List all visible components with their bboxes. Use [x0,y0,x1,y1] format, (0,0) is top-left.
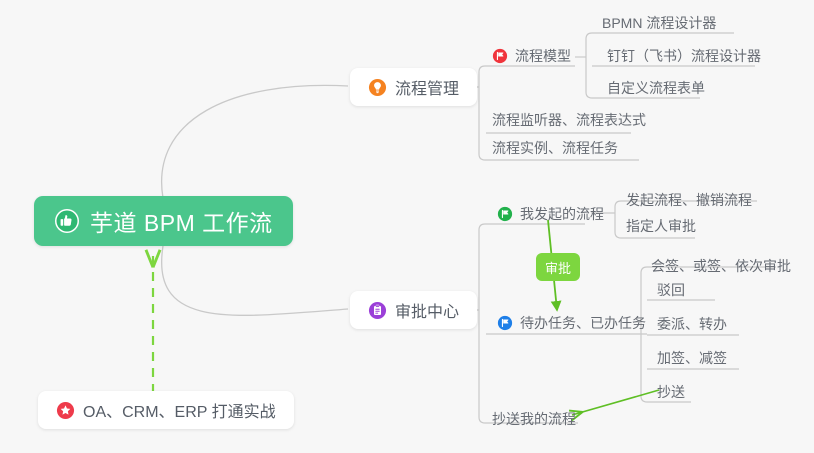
node-process-instance[interactable]: 流程实例、流程任务 [489,133,622,163]
leaf-label-start-cancel-process: 发起流程、撤销流程 [626,190,752,210]
node-todo-done-tasks[interactable]: 待办任务、已办任务 [494,308,650,338]
node-cc-to-me[interactable]: 抄送我的流程 [489,404,580,434]
node-label-cc-to-me: 抄送我的流程 [492,409,576,429]
leaf-bpmn-designer[interactable]: BPMN 流程设计器 [599,8,720,38]
leaf-label-add-remove-sign: 加签、减签 [657,348,727,368]
node-label-todo-done-tasks: 待办任务、已办任务 [520,313,646,333]
root-label: 芋道 BPM 工作流 [90,204,273,238]
leaf-assigned-approver[interactable]: 指定人审批 [623,211,700,241]
branch-label-approval-center: 审批中心 [395,298,459,322]
leaf-label-assigned-approver: 指定人审批 [626,216,696,236]
node-my-initiated[interactable]: 我发起的流程 [494,199,608,229]
arrow-cc-flow [572,390,659,415]
approval-badge-label: 审批 [545,258,571,277]
node-process-listener[interactable]: 流程监听器、流程表达式 [489,105,650,135]
approval-badge: 审批 [536,253,580,281]
leaf-dingtalk-designer[interactable]: 钉钉（飞书）流程设计器 [604,41,765,71]
node-label-process-instance: 流程实例、流程任务 [492,138,618,158]
star-icon [56,401,75,420]
leaf-cc[interactable]: 抄送 [654,377,689,407]
leaf-label-dingtalk-designer: 钉钉（飞书）流程设计器 [607,46,761,66]
root-node[interactable]: 芋道 BPM 工作流 [34,196,293,246]
node-process-model[interactable]: 流程模型 [489,41,575,71]
node-label-my-initiated: 我发起的流程 [520,204,604,224]
floating-note-node[interactable]: OA、CRM、ERP 打通实战 [38,391,294,429]
leaf-add-remove-sign[interactable]: 加签、减签 [654,343,731,373]
link-root-to-approval-center [162,246,348,315]
link-root-to-process-management [162,85,348,198]
clipboard-icon [368,301,387,320]
flag-icon [492,48,508,64]
thumbs-up-icon [54,208,80,234]
leaf-custom-form[interactable]: 自定义流程表单 [604,73,709,103]
branch-node-process-management[interactable]: 流程管理 [350,68,477,106]
leaf-label-delegate-transfer: 委派、转办 [657,314,727,334]
flag-icon [497,315,513,331]
mindmap-canvas: 芋道 BPM 工作流 OA、CRM、ERP 打通实战 流程管理 [0,0,814,453]
node-label-process-model: 流程模型 [515,46,571,66]
node-label-process-listener: 流程监听器、流程表达式 [492,110,646,130]
leaf-delegate-transfer[interactable]: 委派、转办 [654,309,731,339]
leaf-label-reject: 驳回 [657,280,685,300]
branch-node-approval-center[interactable]: 审批中心 [350,291,477,329]
floating-note-label: OA、CRM、ERP 打通实战 [83,398,276,422]
leaf-label-cc: 抄送 [657,382,685,402]
branch-label-process-management: 流程管理 [395,75,459,99]
leaf-label-custom-form: 自定义流程表单 [607,78,705,98]
flag-icon [497,206,513,222]
leaf-reject[interactable]: 驳回 [654,275,689,305]
lightbulb-icon [368,78,387,97]
leaf-label-countersign: 会签、或签、依次审批 [651,256,791,276]
leaf-label-bpmn-designer: BPMN 流程设计器 [602,13,716,33]
